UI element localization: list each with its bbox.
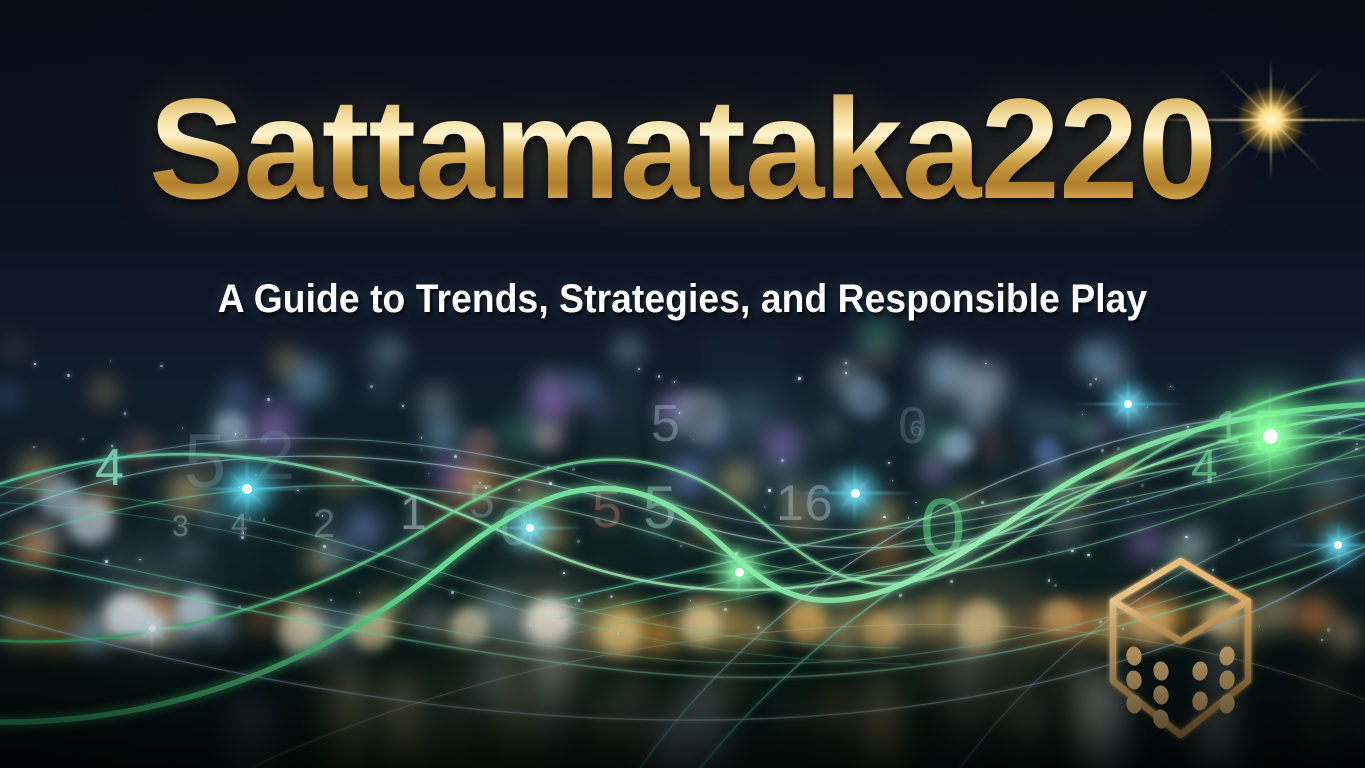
sparkle-dot	[575, 604, 576, 605]
sparkle-dot	[1048, 579, 1051, 582]
sparkle-dot	[757, 626, 760, 629]
sparkle-dot	[451, 591, 454, 594]
sparkle-dot	[899, 594, 902, 597]
sparkle-dot	[529, 624, 531, 626]
dice-cube-icon	[1098, 553, 1263, 743]
sparkle-dot	[267, 398, 270, 401]
sparkle-dot	[299, 607, 300, 608]
sparkle-dot	[617, 633, 619, 635]
sparkle-dot	[674, 381, 676, 383]
sparkle-dot	[563, 572, 565, 574]
sparkle-dot	[1101, 449, 1104, 452]
sparkle-dot	[33, 446, 35, 448]
sparkle-dot	[577, 540, 580, 543]
sparkle-dot	[459, 492, 460, 493]
sparkle-dot	[845, 362, 847, 364]
sparkle-dot	[147, 620, 150, 623]
sparkle-dot	[105, 560, 107, 562]
sparkle-dot	[845, 372, 847, 374]
sparkle-dot	[249, 517, 252, 520]
sparkle-dot	[239, 487, 240, 488]
sparkle-dot	[238, 605, 241, 608]
hero-banner: 45234215055516060415	[0, 0, 1365, 768]
sparkle-dot	[768, 489, 771, 492]
sparkle-dot	[297, 490, 299, 492]
sparkle-dot	[1072, 490, 1073, 491]
sparkle-dot	[421, 437, 423, 439]
sparkle-dot	[1240, 408, 1242, 410]
sparkle-dot	[1187, 426, 1189, 428]
page-subtitle: A Guide to Trends, Strategies, and Respo…	[48, 277, 1317, 322]
sparkle-dot	[950, 580, 953, 583]
sparkle-dot	[781, 459, 784, 462]
sparkle-dot	[235, 433, 237, 435]
sparkle-dot	[111, 445, 113, 447]
sparkle-dot	[1238, 539, 1240, 541]
sparkle-dot	[547, 466, 550, 469]
sparkle-dot	[1082, 414, 1083, 415]
sparkle-dot	[562, 613, 564, 615]
sparkle-dot	[182, 427, 184, 429]
sparkle-dot	[623, 604, 624, 605]
sparkle-dot	[764, 506, 766, 508]
sparkle-dot	[908, 517, 909, 518]
sparkle-dot	[981, 501, 984, 504]
sparkle-dot	[359, 592, 360, 593]
sparkle-dot	[578, 599, 581, 602]
sparkle-dot	[1071, 550, 1073, 552]
sparkle-dot	[428, 473, 429, 474]
sparkle-dot	[402, 405, 404, 407]
sparkle-dot	[1117, 447, 1120, 450]
sparkle-dot	[892, 480, 893, 481]
sparkle-dot	[255, 474, 257, 476]
sparkle-dot	[67, 374, 70, 377]
sparkle-dot	[883, 516, 885, 518]
sparkle-dot	[798, 377, 801, 380]
sparkle-dot	[322, 515, 324, 517]
sparkle-dot	[246, 436, 247, 437]
title-block: Sattamataka220	[0, 78, 1365, 221]
sparkle-dot	[724, 608, 727, 611]
sparkle-dot	[915, 502, 917, 504]
sparkle-dot	[110, 360, 111, 361]
sparkle-dot	[549, 482, 552, 485]
sparkle-dot	[985, 363, 987, 365]
sparkle-dot	[370, 385, 373, 388]
sparkle-dot	[518, 489, 520, 491]
sparkle-dot	[1321, 639, 1323, 641]
sparkle-dot	[323, 545, 326, 548]
sparkle-dot	[1087, 554, 1089, 556]
sparkle-dot	[1089, 383, 1092, 386]
sparkle-dot	[1141, 484, 1144, 487]
sparkle-dot	[243, 532, 245, 534]
sparkle-dot	[1356, 443, 1358, 445]
sparkle-dot	[263, 518, 265, 520]
sparkle-dot	[888, 462, 891, 465]
sparkle-dot	[1327, 628, 1330, 631]
sparkle-dot	[454, 455, 457, 458]
sparkle-dot	[679, 412, 681, 414]
sparkle-dot	[82, 438, 84, 440]
sparkle-dot	[241, 536, 244, 539]
sparkle-dot	[1355, 448, 1358, 451]
sparkle-dot	[638, 368, 640, 370]
sparkle-dot	[1054, 584, 1057, 587]
sparkle-dot	[160, 365, 163, 368]
sparkle-dot	[1185, 536, 1188, 539]
sparkle-dot	[557, 615, 559, 617]
sparkle-dot	[610, 595, 613, 598]
sparkle-dot	[1170, 386, 1171, 387]
sparkle-dot	[1147, 407, 1148, 408]
sparkle-dot	[421, 449, 423, 451]
sparkle-dot	[479, 482, 481, 484]
sparkle-dot	[690, 600, 691, 601]
sparkle-dot	[900, 565, 901, 566]
sparkle-dot	[352, 479, 354, 481]
sparkle-dot	[1338, 432, 1341, 435]
page-title: Sattamataka220	[149, 78, 1216, 221]
sparkle-dot	[330, 599, 332, 601]
sparkle-dot	[1048, 551, 1050, 553]
sparkle-dot	[572, 468, 575, 471]
sparkle-dot	[405, 503, 406, 504]
sparkle-dot	[735, 552, 738, 555]
sparkle-dot	[1127, 501, 1129, 503]
sparkle-dot	[658, 375, 661, 378]
sparkle-dot	[680, 545, 682, 547]
sparkle-dot	[485, 487, 487, 489]
sparkle-dot	[1095, 378, 1097, 380]
sparkle-dot	[139, 559, 140, 560]
sparkle-dot	[693, 439, 695, 441]
sparkle-dot	[34, 363, 36, 365]
sparkle-dot	[124, 412, 127, 415]
